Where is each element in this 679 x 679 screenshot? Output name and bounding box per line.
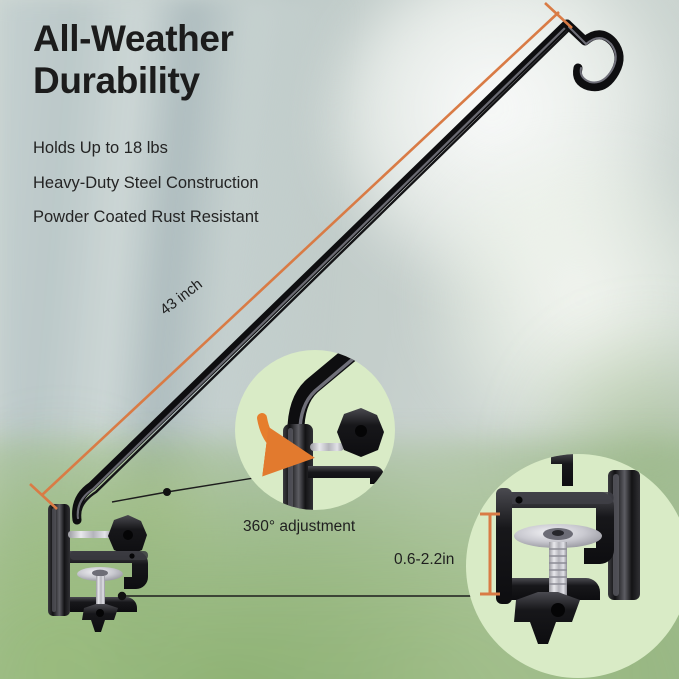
feature-item-material: Heavy-Duty Steel Construction bbox=[33, 175, 373, 192]
s-hook bbox=[567, 24, 619, 87]
feature-list: Holds Up to 18 lbs Heavy-Duty Steel Cons… bbox=[33, 140, 373, 244]
feature-item-weight: Holds Up to 18 lbs bbox=[33, 140, 373, 157]
leader-line-clamp bbox=[118, 592, 480, 600]
leader-line-rotation bbox=[112, 477, 260, 502]
headline-line-1: All-Weather bbox=[33, 18, 363, 60]
detail-circle-rotation bbox=[235, 336, 395, 520]
page-title: All-Weather Durability bbox=[33, 18, 363, 102]
feature-item-coating: Powder Coated Rust Resistant bbox=[33, 209, 373, 226]
caption-clamp-range: 0.6-2.2in bbox=[394, 551, 454, 569]
headline-line-2: Durability bbox=[33, 60, 363, 102]
clamp-base-assembly bbox=[48, 504, 148, 632]
product-image-canvas: All-Weather Durability Holds Up to 18 lb… bbox=[0, 0, 679, 679]
detail-circle-clamp bbox=[466, 452, 679, 678]
caption-rotation: 360° adjustment bbox=[243, 518, 355, 536]
